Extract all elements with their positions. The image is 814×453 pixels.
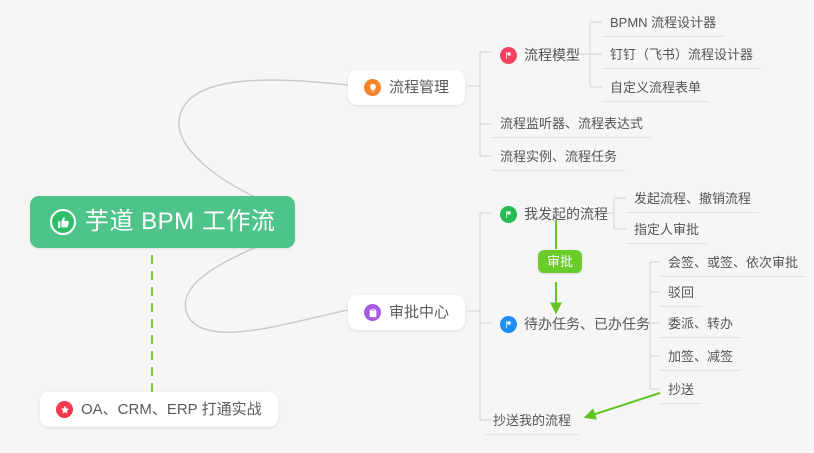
node-listener-expression[interactable]: 流程监听器、流程表达式 xyxy=(492,112,651,138)
node-countersign-label: 会签、或签、依次审批 xyxy=(668,255,798,271)
node-bpmn-designer-label: BPMN 流程设计器 xyxy=(610,15,716,31)
node-process-management[interactable]: 流程管理 xyxy=(348,70,465,105)
thumbs-up-icon xyxy=(50,209,76,235)
node-process-model-label: 流程模型 xyxy=(524,47,580,64)
node-dingtalk-feishu-designer[interactable]: 钉钉（飞书）流程设计器 xyxy=(602,43,761,69)
node-my-initiated[interactable]: 我发起的流程 xyxy=(492,202,616,228)
node-process-management-label: 流程管理 xyxy=(389,80,449,95)
node-dingtalk-feishu-designer-label: 钉钉（飞书）流程设计器 xyxy=(610,47,753,63)
node-start-cancel-label: 发起流程、撤销流程 xyxy=(634,191,751,207)
node-delegate-transfer[interactable]: 委派、转办 xyxy=(660,312,741,338)
node-countersign[interactable]: 会签、或签、依次审批 xyxy=(660,251,806,277)
root-label: 芋道 BPM 工作流 xyxy=(85,210,275,234)
node-instance-task-label: 流程实例、流程任务 xyxy=(500,149,617,165)
node-cc-to-me-label: 抄送我的流程 xyxy=(493,413,571,429)
node-cc-label: 抄送 xyxy=(668,382,694,398)
node-instance-task[interactable]: 流程实例、流程任务 xyxy=(492,145,625,171)
node-my-initiated-label: 我发起的流程 xyxy=(524,206,608,223)
node-listener-expression-label: 流程监听器、流程表达式 xyxy=(500,116,643,132)
node-reject-label: 驳回 xyxy=(668,285,694,301)
root-node[interactable]: 芋道 BPM 工作流 xyxy=(30,196,295,248)
tag-approval[interactable]: 审批 xyxy=(538,250,582,273)
node-assignee-approval[interactable]: 指定人审批 xyxy=(626,218,707,244)
node-approval-center-label: 审批中心 xyxy=(389,305,449,320)
star-icon xyxy=(56,401,73,418)
mindmap-canvas: 芋道 BPM 工作流 流程管理 流程模型 BPMN 流程设计器 钉钉（飞书）流程… xyxy=(0,0,814,453)
connector-root-to-approval-center xyxy=(185,236,348,332)
node-delegate-transfer-label: 委派、转办 xyxy=(668,316,733,332)
node-todo-done-tasks-label: 待办任务、已办任务 xyxy=(524,316,650,333)
clipboard-icon xyxy=(364,304,381,321)
node-cc[interactable]: 抄送 xyxy=(660,378,702,404)
node-start-cancel[interactable]: 发起流程、撤销流程 xyxy=(626,187,759,213)
node-add-remove-sign[interactable]: 加签、减签 xyxy=(660,345,741,371)
tag-approval-label: 审批 xyxy=(547,254,573,269)
node-add-remove-sign-label: 加签、减签 xyxy=(668,349,733,365)
flag-blue-icon xyxy=(500,316,517,333)
flag-red-icon xyxy=(500,47,517,64)
node-cc-to-me[interactable]: 抄送我的流程 xyxy=(485,409,579,435)
node-approval-center[interactable]: 审批中心 xyxy=(348,295,465,330)
node-integration-note[interactable]: OA、CRM、ERP 打通实战 xyxy=(40,392,278,427)
node-bpmn-designer[interactable]: BPMN 流程设计器 xyxy=(602,11,724,37)
node-assignee-approval-label: 指定人审批 xyxy=(634,222,699,238)
arrow-cc-to-cc-to-me xyxy=(586,393,660,417)
node-integration-note-label: OA、CRM、ERP 打通实战 xyxy=(81,402,262,417)
node-custom-process-form-label: 自定义流程表单 xyxy=(610,80,701,96)
node-process-model[interactable]: 流程模型 xyxy=(492,43,588,69)
node-reject[interactable]: 驳回 xyxy=(660,281,702,307)
node-custom-process-form[interactable]: 自定义流程表单 xyxy=(602,76,709,102)
lightbulb-icon xyxy=(364,79,381,96)
node-todo-done-tasks[interactable]: 待办任务、已办任务 xyxy=(492,312,658,338)
connector-root-to-process-management xyxy=(179,80,348,208)
flag-green-icon xyxy=(500,206,517,223)
